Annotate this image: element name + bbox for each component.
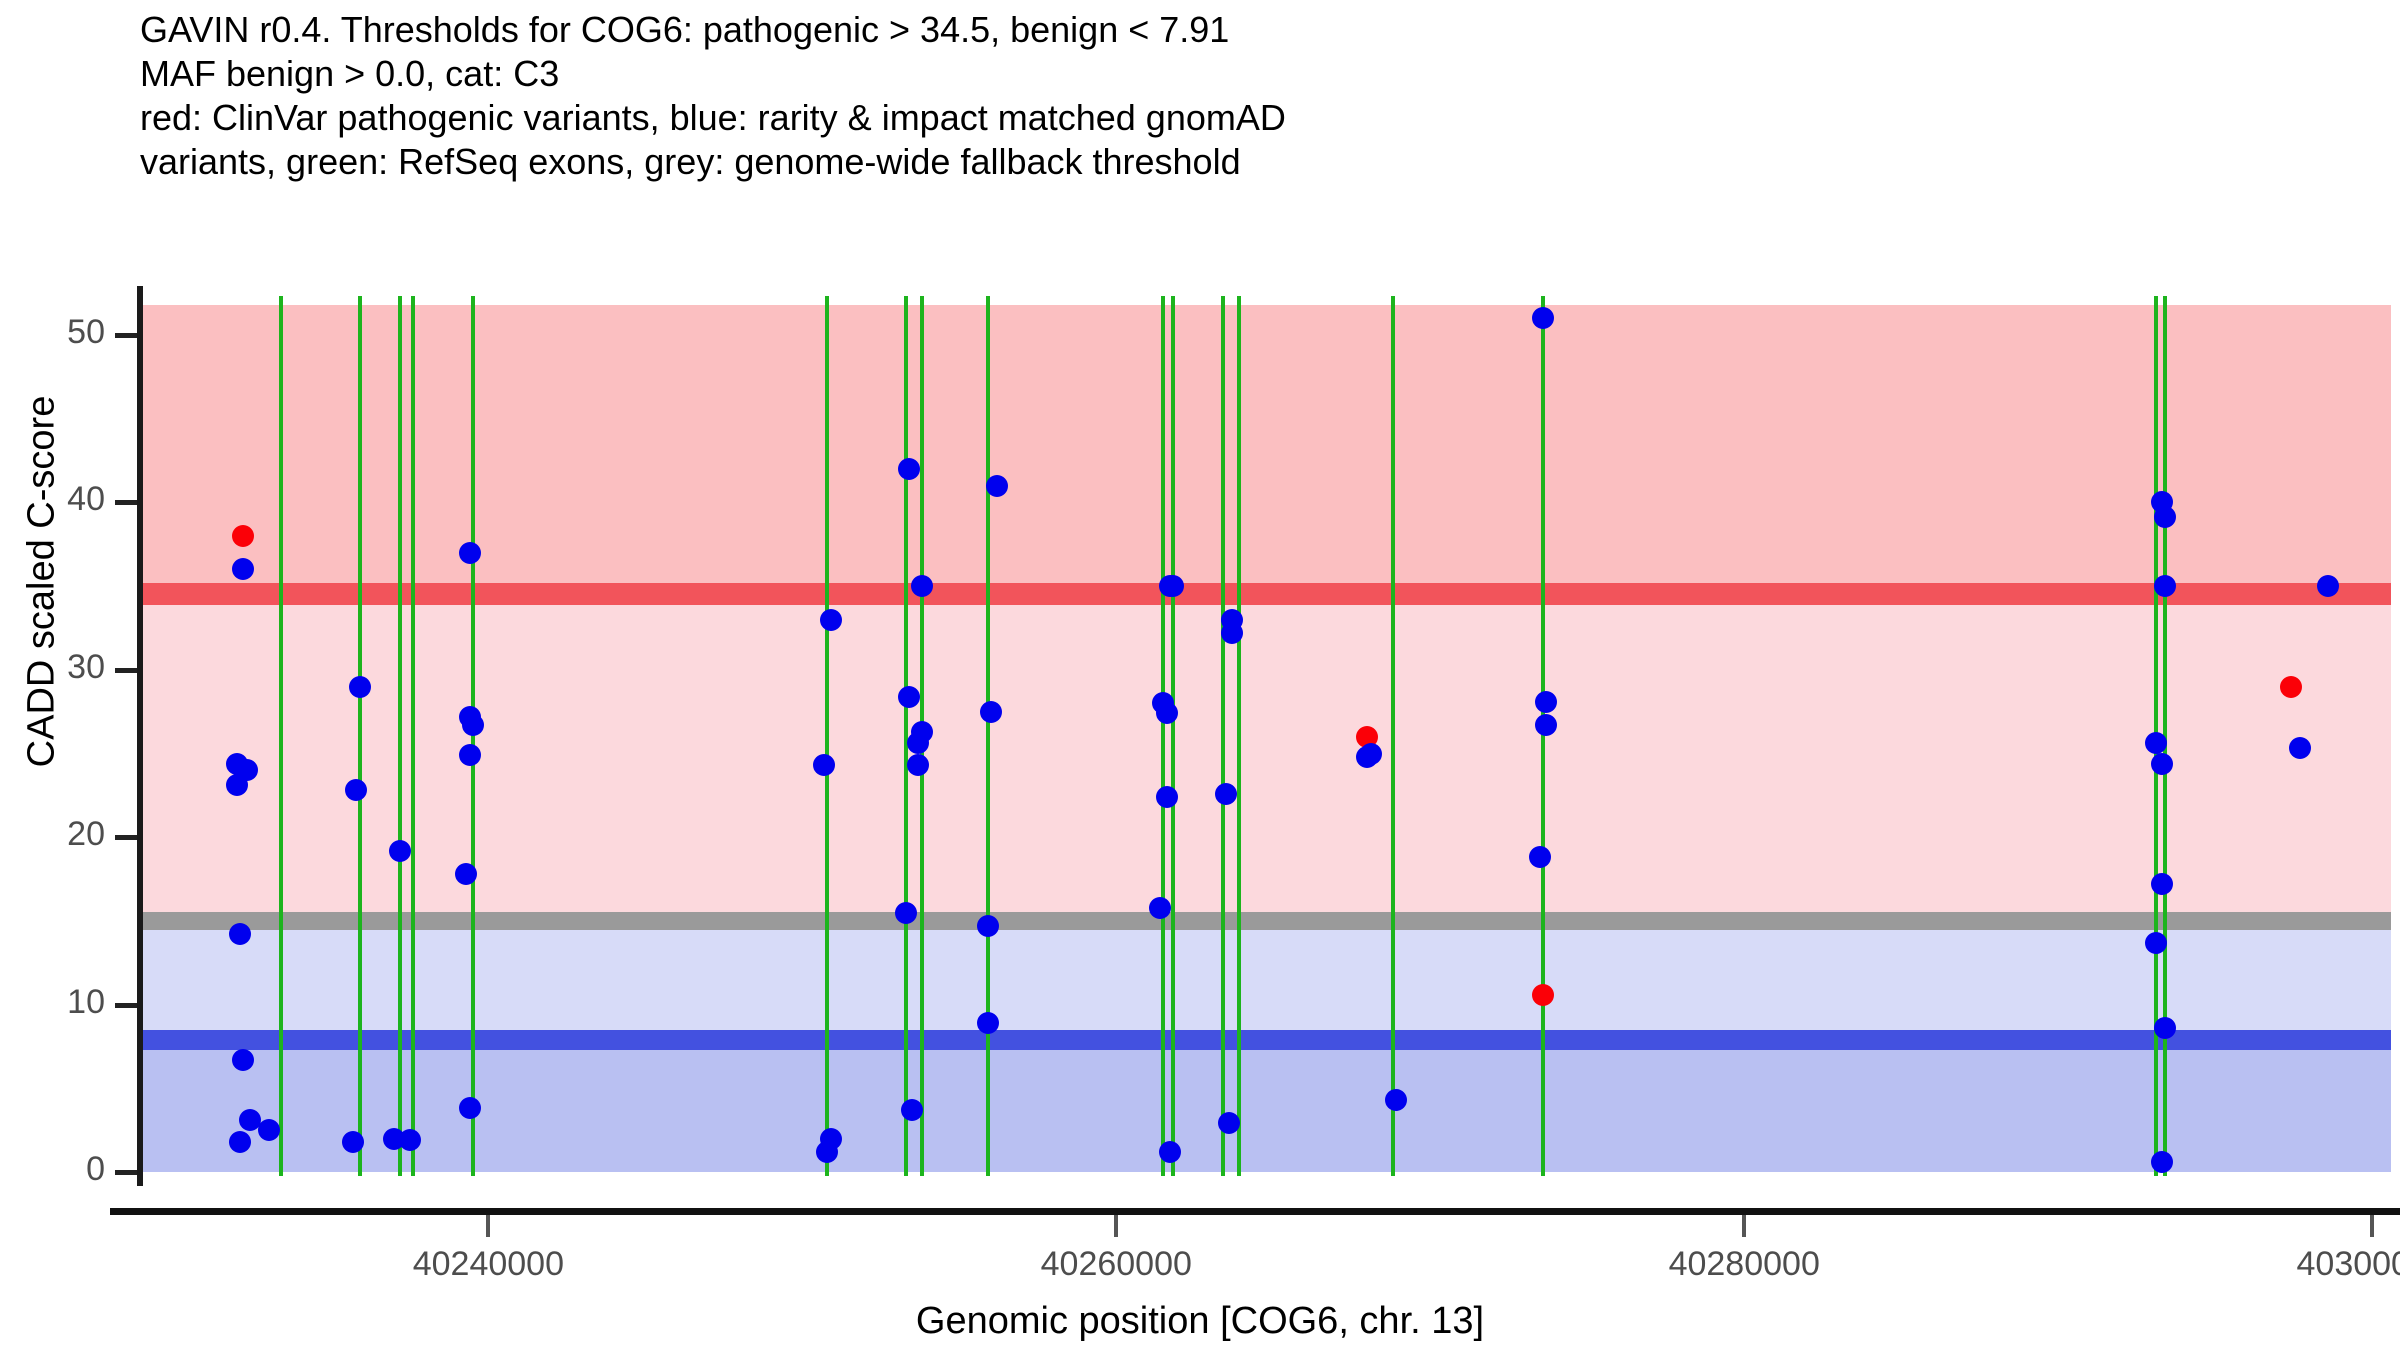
y-axis-tick-label: 20	[15, 815, 105, 854]
x-axis-tick-label: 40300000	[2222, 1245, 2400, 1284]
refseq-exon-marker	[986, 296, 990, 1176]
gnomad-variant-point	[2154, 1017, 2176, 1039]
clinvar-pathogenic-point	[2280, 676, 2302, 698]
gnomad-variant-point	[898, 686, 920, 708]
x-axis-tick	[486, 1215, 490, 1237]
gnomad-variant-point	[459, 1097, 481, 1119]
x-axis-tick	[1114, 1215, 1118, 1237]
refseq-exon-marker	[411, 296, 415, 1176]
x-axis-tick-label: 40260000	[966, 1245, 1266, 1284]
gnomad-variant-point	[1215, 783, 1237, 805]
x-axis-tick-label: 40280000	[1594, 1245, 1894, 1284]
y-axis-tick	[115, 1003, 137, 1008]
gnomad-variant-point	[895, 902, 917, 924]
plot-area	[143, 296, 2391, 1176]
gnomad-variant-point	[258, 1119, 280, 1141]
title-line-1: GAVIN r0.4. Thresholds for COG6: pathoge…	[140, 8, 2340, 52]
gnomad-variant-point	[1156, 786, 1178, 808]
refseq-exon-marker	[1541, 296, 1545, 1176]
refseq-exon-marker	[398, 296, 402, 1176]
title-line-4: variants, green: RefSeq exons, grey: gen…	[140, 140, 2340, 184]
pathogenic-threshold-line	[143, 583, 2391, 605]
gnomad-variant-point	[2145, 732, 2167, 754]
plot-panel	[143, 296, 2391, 1176]
gnomad-variant-point	[986, 475, 1008, 497]
gnomad-variant-point	[389, 840, 411, 862]
y-axis-tick	[115, 500, 137, 505]
refseq-exon-marker	[1391, 296, 1395, 1176]
gnomad-variant-point	[977, 1012, 999, 1034]
gnomad-variant-point	[399, 1129, 421, 1151]
cadd-score-scatter-plot: GAVIN r0.4. Thresholds for COG6: pathoge…	[0, 0, 2400, 1350]
y-axis-tick	[115, 333, 137, 338]
gnomad-variant-point	[459, 542, 481, 564]
x-axis-tick-label: 40240000	[338, 1245, 638, 1284]
gnomad-variant-point	[820, 609, 842, 631]
gnomad-variant-point	[2151, 1151, 2173, 1173]
y-axis-tick	[115, 1170, 137, 1175]
gnomad-variant-point	[462, 714, 484, 736]
y-axis-tick	[115, 835, 137, 840]
gnomad-variant-point	[1162, 575, 1184, 597]
refseq-exon-marker	[825, 296, 829, 1176]
gnomad-variant-point	[2145, 932, 2167, 954]
gnomad-variant-point	[1385, 1089, 1407, 1111]
x-axis-tick	[2370, 1215, 2374, 1237]
gnomad-variant-point	[898, 458, 920, 480]
x-axis-line	[110, 1208, 2400, 1215]
gnomad-variant-point	[1156, 702, 1178, 724]
refseq-exon-marker	[358, 296, 362, 1176]
y-axis-tick-label: 50	[15, 313, 105, 352]
gnomad-variant-point	[911, 575, 933, 597]
title-line-3: red: ClinVar pathogenic variants, blue: …	[140, 96, 2340, 140]
gnomad-variant-point	[1159, 1141, 1181, 1163]
gnomad-variant-point	[1535, 691, 1557, 713]
fallback-threshold-line	[143, 912, 2391, 930]
y-axis-title: CADD scaled C-score	[21, 372, 64, 792]
clinvar-pathogenic-point	[1532, 984, 1554, 1006]
benign-threshold-line	[143, 1030, 2391, 1050]
refseq-exon-marker	[1237, 296, 1241, 1176]
refseq-exon-marker	[1161, 296, 1165, 1176]
uncertain-benign-zone-band	[143, 921, 2391, 1040]
x-axis-tick	[1742, 1215, 1746, 1237]
y-axis-tick-label: 10	[15, 983, 105, 1022]
y-axis-tick-label: 0	[15, 1150, 105, 1189]
y-axis-tick	[115, 668, 137, 673]
refseq-exon-marker	[904, 296, 908, 1176]
gnomad-variant-point	[2154, 575, 2176, 597]
x-axis-title: Genomic position [COG6, chr. 13]	[0, 1300, 2400, 1343]
gnomad-variant-point	[349, 676, 371, 698]
gnomad-variant-point	[1149, 897, 1171, 919]
gnomad-variant-point	[459, 744, 481, 766]
gnomad-variant-point	[2151, 873, 2173, 895]
refseq-exon-marker	[279, 296, 283, 1176]
title-line-2: MAF benign > 0.0, cat: C3	[140, 52, 2340, 96]
gnomad-variant-point	[2151, 753, 2173, 775]
refseq-exon-marker	[1221, 296, 1225, 1176]
refseq-exon-marker	[1171, 296, 1175, 1176]
plot-title: GAVIN r0.4. Thresholds for COG6: pathoge…	[140, 8, 2340, 184]
gnomad-variant-point	[980, 701, 1002, 723]
gnomad-variant-point	[977, 915, 999, 937]
